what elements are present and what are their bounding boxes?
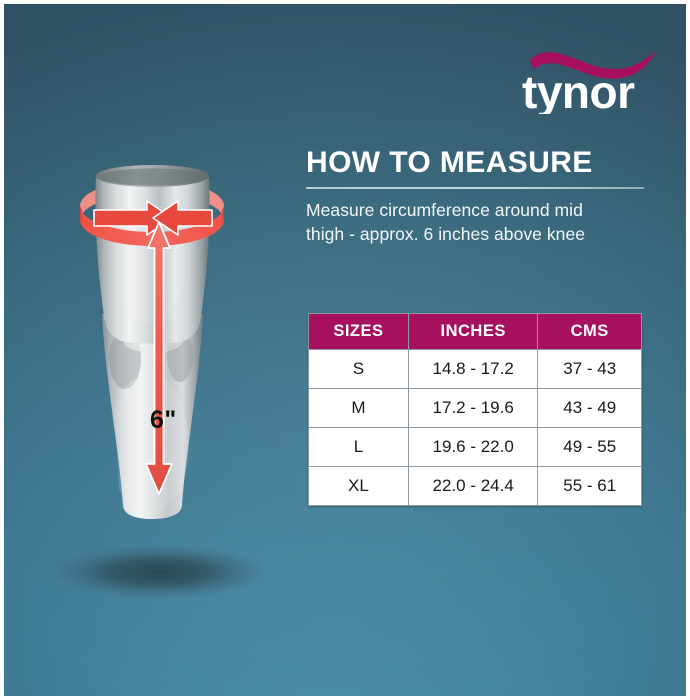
- table-row: M 17.2 - 19.6 43 - 49: [309, 389, 642, 428]
- table-row: XL 22.0 - 24.4 55 - 61: [309, 467, 642, 506]
- table-header-row: SIZES INCHES CMS: [309, 314, 642, 350]
- column-header-cms: CMS: [538, 314, 642, 350]
- leg-illustration: 6": [22, 144, 302, 614]
- measure-distance-label: 6": [150, 406, 177, 435]
- table-row: S 14.8 - 17.2 37 - 43: [309, 350, 642, 389]
- cell-inches: 14.8 - 17.2: [408, 350, 538, 389]
- column-header-inches: INCHES: [408, 314, 538, 350]
- brand-logo[interactable]: tynor: [520, 42, 665, 114]
- instruction-line-1: Measure circumference around mid: [306, 200, 583, 220]
- column-header-sizes: SIZES: [309, 314, 409, 350]
- page-title: HOW TO MEASURE: [306, 146, 646, 180]
- table-row: L 19.6 - 22.0 49 - 55: [309, 428, 642, 467]
- cell-inches: 22.0 - 24.4: [408, 467, 538, 506]
- cell-cms: 43 - 49: [538, 389, 642, 428]
- measure-instructions: Measure circumference around mid thigh -…: [306, 198, 646, 246]
- how-to-measure-section: HOW TO MEASURE Measure circumference aro…: [306, 146, 646, 246]
- cell-inches: 17.2 - 19.6: [408, 389, 538, 428]
- logo-wordmark: tynor: [522, 66, 635, 114]
- cell-size: M: [309, 389, 409, 428]
- size-chart-table: SIZES INCHES CMS S 14.8 - 17.2 37 - 43 M…: [308, 313, 642, 506]
- cell-cms: 55 - 61: [538, 467, 642, 506]
- leg-shadow: [51, 545, 267, 599]
- cell-size: L: [309, 428, 409, 467]
- cell-cms: 49 - 55: [538, 428, 642, 467]
- cell-size: XL: [309, 467, 409, 506]
- cell-inches: 19.6 - 22.0: [408, 428, 538, 467]
- instruction-line-2: thigh - approx. 6 inches above knee: [306, 222, 646, 246]
- cell-size: S: [309, 350, 409, 389]
- size-chart-canvas: 6" tynor HOW TO MEASURE Measure circumfe…: [0, 0, 690, 700]
- cell-cms: 37 - 43: [538, 350, 642, 389]
- title-divider: [306, 187, 644, 189]
